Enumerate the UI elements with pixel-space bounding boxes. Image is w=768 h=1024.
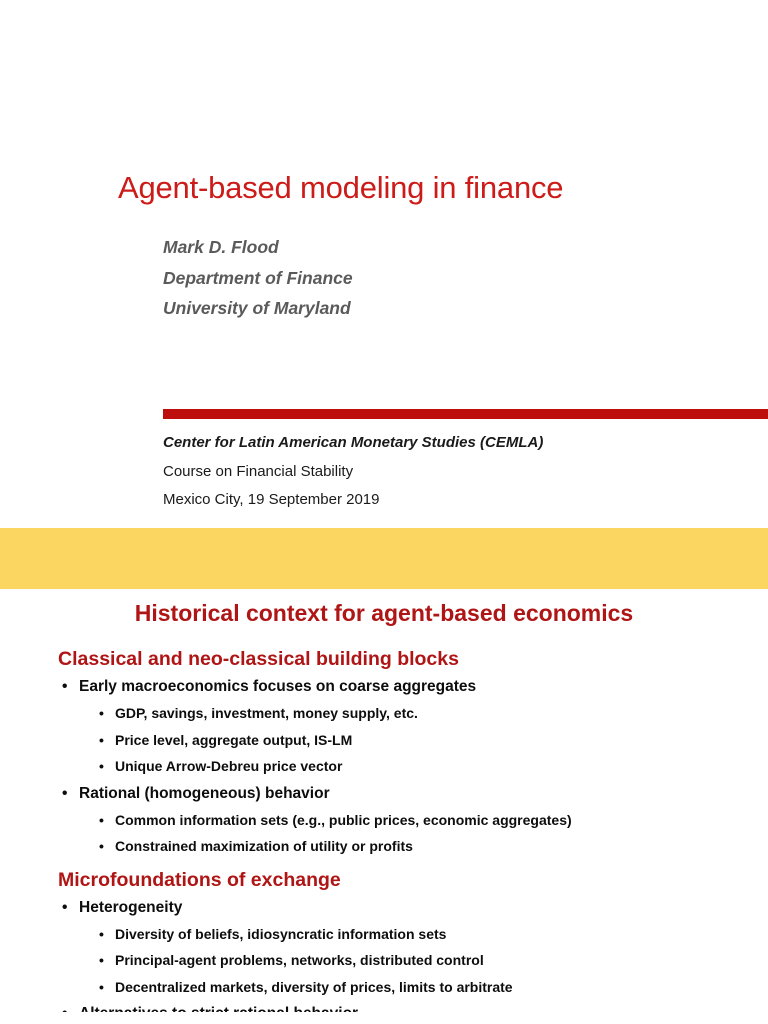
list-item: Rational (homogeneous) behavior <box>62 780 768 807</box>
list-item: Unique Arrow-Debreu price vector <box>99 753 768 780</box>
red-divider-rule <box>163 409 768 419</box>
author-name: Mark D. Flood <box>163 232 353 263</box>
list-item: Early macroeconomics focuses on coarse a… <box>62 673 768 700</box>
list-item: Diversity of beliefs, idiosyncratic info… <box>99 921 768 948</box>
list-item: Constrained maximization of utility or p… <box>99 833 768 860</box>
list-item: GDP, savings, investment, money supply, … <box>99 700 768 727</box>
list-item: Common information sets (e.g., public pr… <box>99 807 768 834</box>
author-institution: University of Maryland <box>163 293 353 324</box>
venue-organization: Center for Latin American Monetary Studi… <box>163 429 543 458</box>
list-item: Price level, aggregate output, IS-LM <box>99 727 768 754</box>
list-item: Decentralized markets, diversity of pric… <box>99 974 768 1001</box>
venue-block: Center for Latin American Monetary Studi… <box>163 429 543 515</box>
list-item-clipped: Alternatives to strict rational behavior <box>62 1000 768 1012</box>
venue-location-date: Mexico City, 19 September 2019 <box>163 486 543 515</box>
bullet-outline: Classical and neo-classical building blo… <box>0 645 768 1012</box>
slide-heading: Historical context for agent-based econo… <box>0 600 768 627</box>
title-slide: Agent-based modeling in finance Mark D. … <box>0 0 768 528</box>
list-item: Principal-agent problems, networks, dist… <box>99 947 768 974</box>
author-block: Mark D. Flood Department of Finance Univ… <box>163 232 353 324</box>
content-slide: Historical context for agent-based econo… <box>0 589 768 1024</box>
author-department: Department of Finance <box>163 263 353 294</box>
section-heading-classical: Classical and neo-classical building blo… <box>58 645 768 673</box>
list-item: Heterogeneity <box>62 894 768 921</box>
venue-course: Course on Financial Stability <box>163 458 543 487</box>
deck-title: Agent-based modeling in finance <box>118 170 563 206</box>
section-heading-microfoundations: Microfoundations of exchange <box>58 866 768 894</box>
yellow-accent-band <box>0 528 768 589</box>
